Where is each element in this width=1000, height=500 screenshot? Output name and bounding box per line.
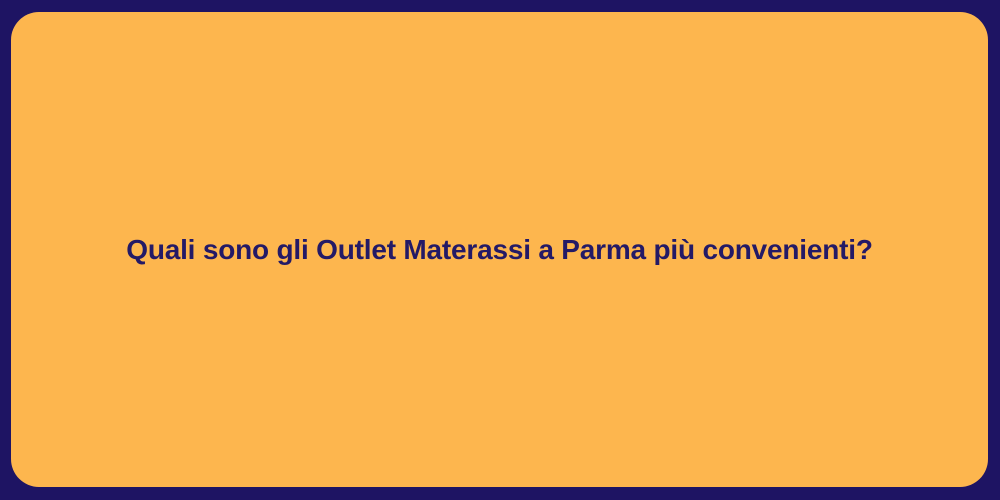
banner-frame: Quali sono gli Outlet Materassi a Parma … (0, 0, 1000, 500)
banner-panel: Quali sono gli Outlet Materassi a Parma … (11, 12, 988, 487)
page-title: Quali sono gli Outlet Materassi a Parma … (126, 232, 873, 267)
